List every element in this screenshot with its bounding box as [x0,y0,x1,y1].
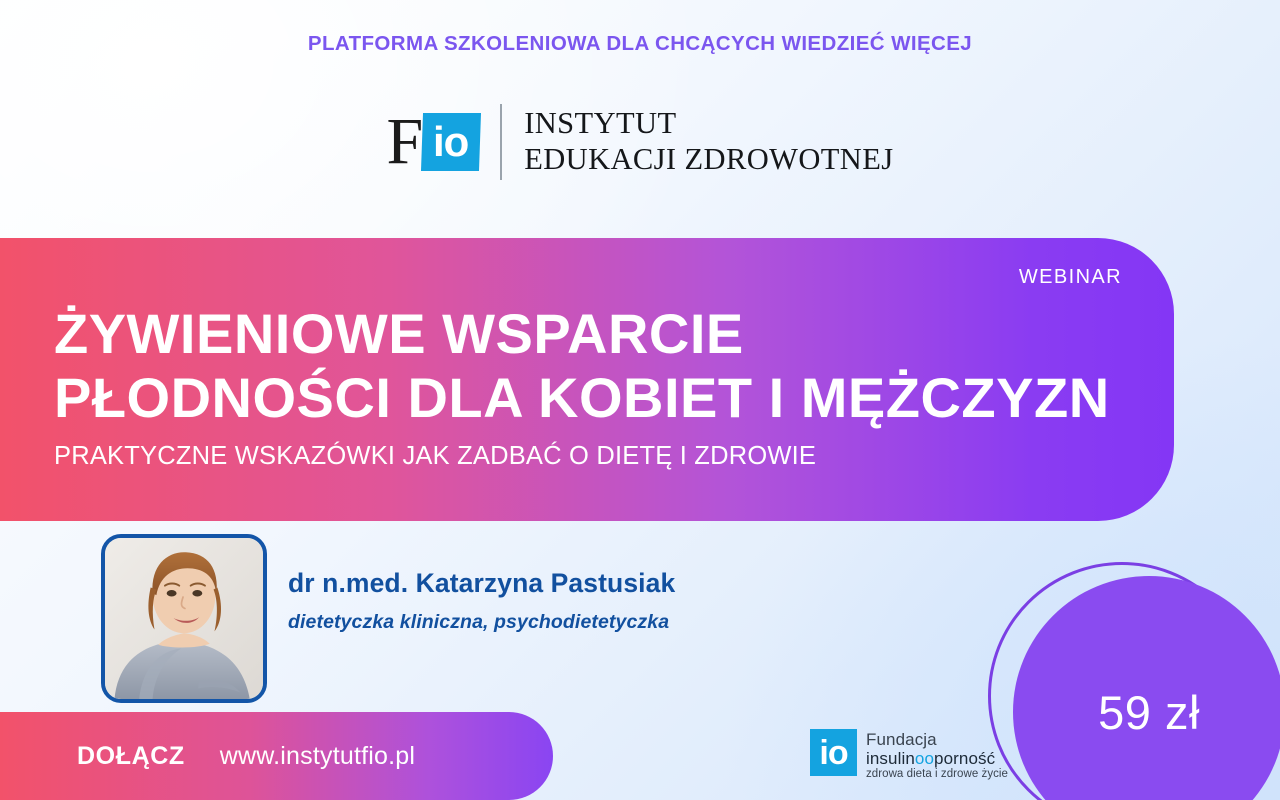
foundation-io-text: io [819,736,847,770]
platform-tagline: PLATFORMA SZKOLENIOWA DLA CHCĄCYCH WIEDZ… [0,32,1280,56]
logo-letter-f: F [386,112,421,173]
foundation-line-1: Fundacja [866,730,1008,749]
foundation-name: Fundacja insulinooporność zdrowa dieta i… [866,729,1008,782]
foundation-line-3: zdrowa dieta i zdrowe życie [866,768,1008,782]
speaker-avatar [101,534,267,703]
logo-io-text: io [434,121,469,163]
speaker-portrait-image [105,538,263,699]
title-line-2: PŁODNOŚCI DLA KOBIET I MĘŻCZYZN [54,366,1110,430]
institute-name: INSTYTUT EDUKACJI ZDROWOTNEJ [524,106,893,178]
fio-logo-mark: F io [386,112,480,173]
institute-name-line2: EDUKACJI ZDROWOTNEJ [524,142,893,178]
webinar-poster: PLATFORMA SZKOLENIOWA DLA CHCĄCYCH WIEDZ… [0,0,1280,800]
foundation-line-2c: porność [934,749,995,768]
logo-divider [500,104,502,180]
foundation-logo: io Fundacja insulinooporność zdrowa diet… [810,729,1008,782]
foundation-line-2-accent: oo [915,749,934,768]
price-value: 59 zł [1013,576,1280,800]
institute-logo: F io INSTYTUT EDUKACJI ZDROWOTNEJ [0,104,1280,180]
page-subtitle: PRAKTYCZNE WSKAZÓWKI JAK ZADBAĆ O DIETĘ … [54,442,816,471]
join-bar[interactable]: DOŁĄCZ www.instytutfio.pl [0,712,553,800]
join-label: DOŁĄCZ [77,742,185,771]
speaker-role: dietetyczka kliniczna, psychodietetyczka [288,611,669,634]
speaker-name: dr n.med. Katarzyna Pastusiak [288,568,675,599]
institute-name-line1: INSTYTUT [524,106,893,142]
foundation-line-2: insulinooporność [866,749,1008,768]
page-title: ŻYWIENIOWE WSPARCIE PŁODNOŚCI DLA KOBIET… [54,302,1110,430]
foundation-io-box-icon: io [810,729,857,776]
foundation-line-2a: insulin [866,749,915,768]
headline-banner: WEBINAR ŻYWIENIOWE WSPARCIE PŁODNOŚCI DL… [0,238,1174,521]
website-url[interactable]: www.instytutfio.pl [220,742,415,771]
title-line-1: ŻYWIENIOWE WSPARCIE [54,302,1110,366]
webinar-badge: WEBINAR [1019,266,1122,289]
logo-io-box-icon: io [421,113,481,171]
